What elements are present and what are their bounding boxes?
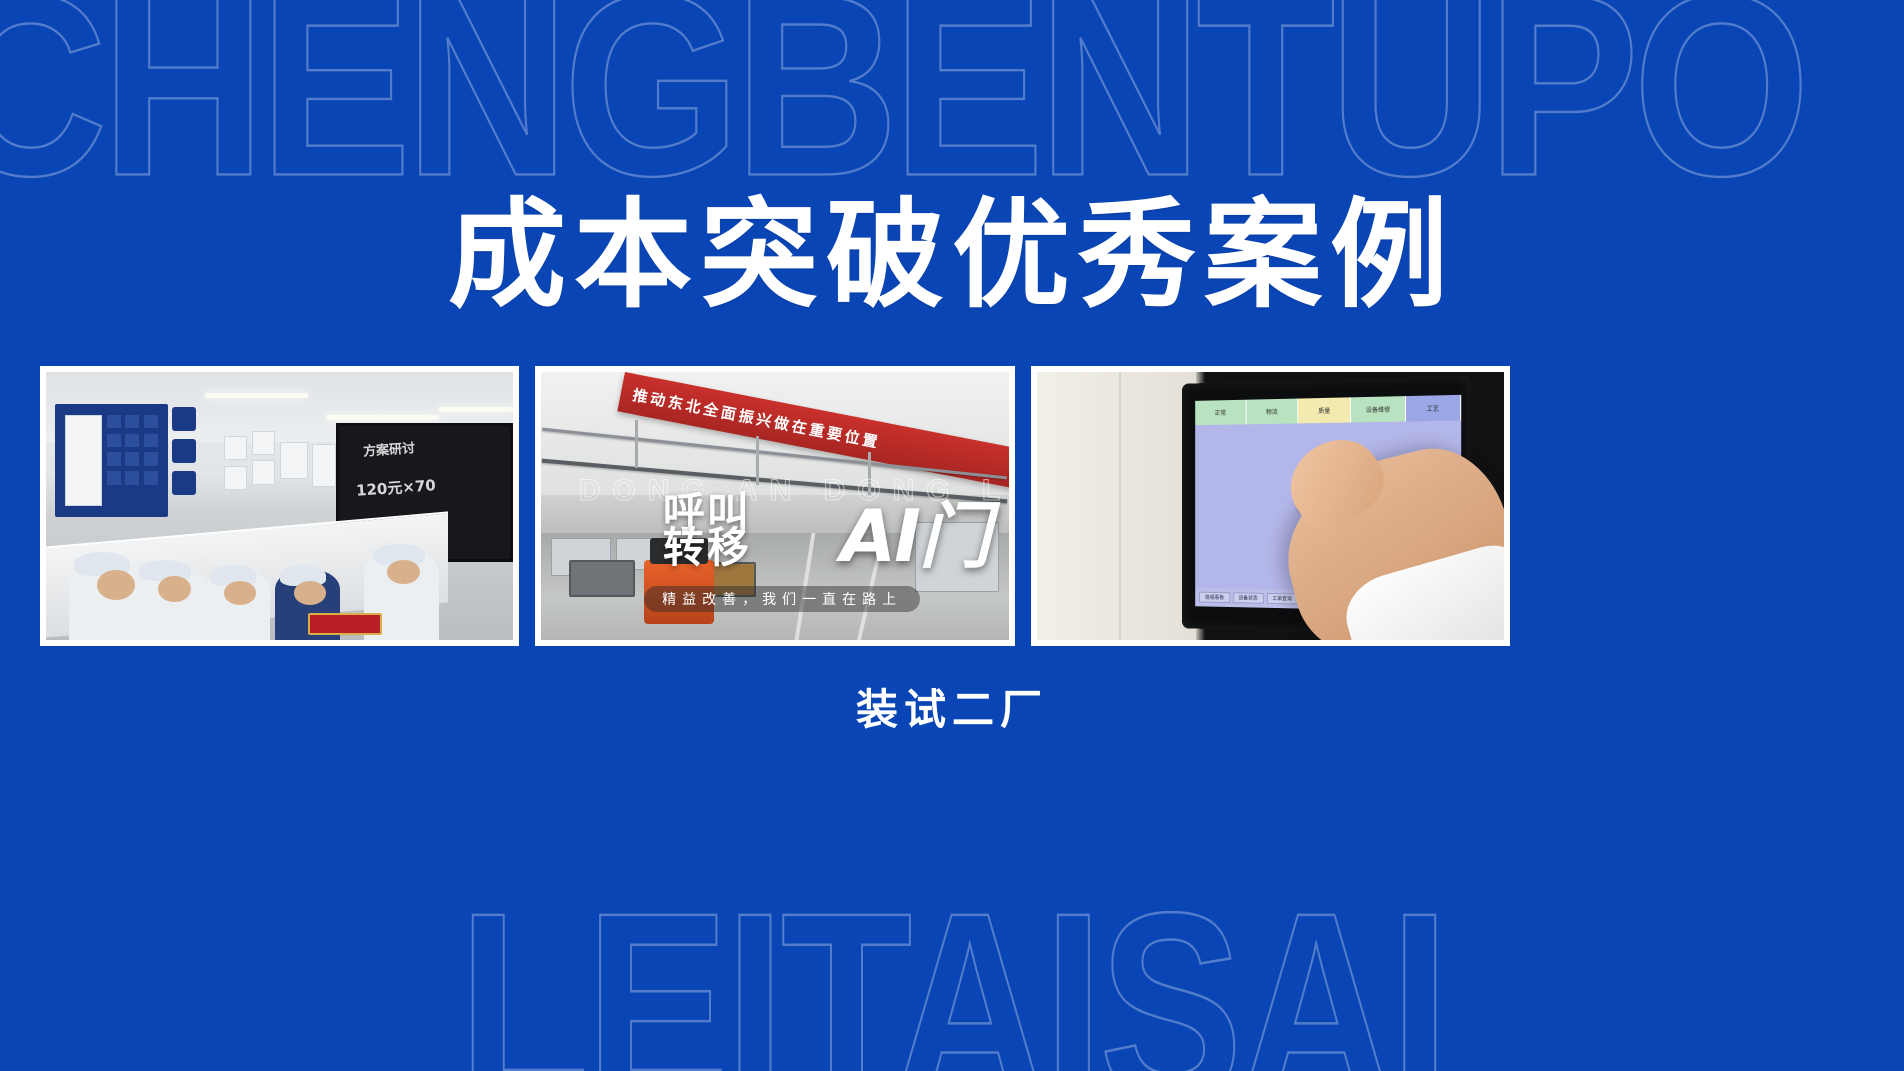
hmi-footer-button-1[interactable]: 设备状态: [1233, 593, 1264, 604]
wall-poster: [280, 442, 308, 480]
board-panel: [65, 415, 102, 506]
hmi-tab-2[interactable]: 质量: [1298, 397, 1351, 423]
hmi-footer-button-2[interactable]: 工单查询: [1266, 593, 1297, 605]
photo-meeting: 方案研讨 120元×70: [46, 372, 513, 640]
overlay-tagline: 精益改善，我们一直在路上: [644, 586, 920, 612]
panel-wall: [1037, 372, 1196, 640]
portrait-tile: [144, 452, 158, 465]
photo-hmi-panel: 正常 物流 质量 设备维修 工艺 呼叫班长 呼叫装备 呼叫质量 班组看板 设备状…: [1037, 372, 1504, 640]
material-cart: [569, 560, 634, 598]
top-outline-watermark: CHENGBENTUPO: [0, 0, 1904, 214]
wall-poster: [312, 444, 335, 487]
hmi-tab-0[interactable]: 正常: [1195, 399, 1246, 425]
overlay-headline-2: 转移: [663, 514, 751, 575]
hex-badge: [172, 471, 195, 495]
portrait-tile: [125, 415, 139, 428]
hex-badge: [172, 439, 195, 463]
wall-poster: [224, 466, 247, 490]
photo-gallery: 方案研讨 120元×70 推动东北全面振兴做在重要位: [40, 366, 1510, 646]
portrait-tile: [125, 434, 139, 447]
ceiling-light: [326, 415, 438, 420]
portrait-tile: [125, 471, 139, 484]
hmi-tab-1[interactable]: 物流: [1246, 398, 1298, 424]
presenter-head: [387, 560, 420, 584]
attendee-head: [158, 576, 191, 603]
portrait-tile: [144, 471, 158, 484]
award-plaque: [308, 613, 383, 634]
hmi-tab-bar[interactable]: 正常 物流 质量 设备维修 工艺: [1195, 394, 1461, 425]
portrait-tile: [144, 415, 158, 428]
tv-annotation-title: 方案研讨: [362, 437, 415, 460]
hex-badge: [172, 407, 195, 431]
photo-frame-hmi: 正常 物流 质量 设备维修 工艺 呼叫班长 呼叫装备 呼叫质量 班组看板 设备状…: [1031, 366, 1510, 646]
rail-post: [635, 420, 638, 468]
ceiling-light: [439, 407, 514, 412]
wall-poster: [252, 460, 275, 484]
bottom-outline-watermark: LEITAISAI: [0, 872, 1904, 1071]
tv-annotation-number: 120元×70: [355, 474, 436, 501]
attendee-head: [97, 570, 134, 599]
hmi-tab-3[interactable]: 设备维修: [1351, 396, 1405, 423]
hmi-footer-button-0[interactable]: 班组看板: [1199, 592, 1229, 603]
photo-frame-meeting: 方案研讨 120元×70: [40, 366, 519, 646]
page-title: 成本突破优秀案例: [0, 188, 1904, 324]
department-caption: 装试二厂: [0, 676, 1904, 737]
portrait-tile: [107, 434, 121, 447]
wall-poster: [252, 431, 275, 455]
portrait-tile: [144, 434, 158, 447]
overlay-headline-accent: AI门: [840, 477, 989, 582]
photo-frame-workshop: 推动东北全面振兴做在重要位置 DONG AN DONG LI 呼叫 转移 AI门…: [535, 366, 1014, 646]
portrait-tile: [125, 452, 139, 465]
portrait-tile: [107, 452, 121, 465]
ceiling-light: [205, 393, 308, 398]
portrait-tile: [107, 415, 121, 428]
photo-workshop: 推动东北全面振兴做在重要位置 DONG AN DONG LI 呼叫 转移 AI门…: [541, 372, 1008, 640]
wall-poster: [224, 436, 247, 460]
hmi-tab-4[interactable]: 工艺: [1406, 394, 1462, 421]
portrait-tile: [107, 471, 121, 484]
